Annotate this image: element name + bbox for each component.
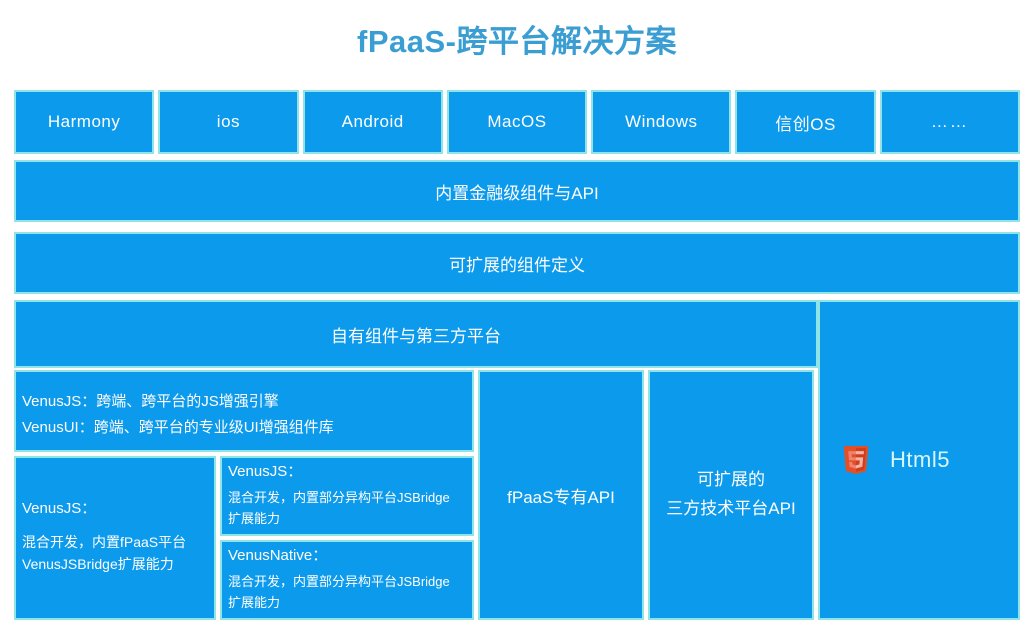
html5-panel-label: Html5 [890,447,950,473]
platform-tile-harmony[interactable]: Harmony [14,90,154,154]
venusjs-body-line1: 混合开发，内置部分异构平台JSBridge [228,487,466,508]
venus-description-block[interactable]: VenusJS：跨端、跨平台的JS增强引擎 VenusUI：跨端、跨平台的专业级… [14,370,474,452]
platform-row: Harmony ios Android MacOS Windows 信创OS …… [14,90,1020,154]
venusjs-heading: VenusJS： [228,463,466,482]
platform-tile-label: 信创OS [775,110,836,135]
band-label: 内置金融级组件与API [435,179,598,204]
venusnative-heterogeneous-cell[interactable]: VenusNative： 混合开发，内置部分异构平台JSBridge 扩展能力 [220,540,474,620]
platform-tile-xinchuang-os[interactable]: 信创OS [735,90,875,154]
venusnative-body-line2: 扩展能力 [228,592,466,613]
platform-tile-label: …… [931,112,969,132]
page-title: fPaaS-跨平台解决方案 [0,16,1034,61]
platform-tile-label: Harmony [48,112,120,132]
platform-tile-macos[interactable]: MacOS [447,90,587,154]
column-fpaas-proprietary-api[interactable]: fPaaS专有API [478,370,644,620]
band-label: 自有组件与第三方平台 [331,322,501,347]
platform-tile-more[interactable]: …… [880,90,1020,154]
platform-tile-label: MacOS [487,112,546,132]
column-label: fPaaS专有API [507,483,615,508]
venusjs-hybrid-heading: VenusJS： [22,501,208,518]
band-label: 可扩展的组件定义 [449,251,585,276]
venusjs-body-line2: 扩展能力 [228,508,466,529]
diagram-canvas: fPaaS-跨平台解决方案 Harmony ios Android MacOS … [0,0,1034,634]
venusnative-heading: VenusNative： [228,547,466,566]
column-label-line1: 可扩展的 [666,466,795,495]
platform-tile-label: Windows [625,112,697,132]
venusjs-hybrid-body-line1: 混合开发，内置fPaaS平台 [22,532,208,554]
venusnative-body-line1: 混合开发，内置部分异构平台JSBridge [228,571,466,592]
column-label-group: 可扩展的 三方技术平台API [666,466,795,524]
venusjs-hybrid-body: 混合开发，内置fPaaS平台 VenusJSBridge扩展能力 [22,532,208,575]
band-extensible-component-definition[interactable]: 可扩展的组件定义 [14,232,1020,294]
platform-tile-label: Android [342,112,404,132]
venusjs-hybrid-body-line2: VenusJSBridge扩展能力 [22,554,208,576]
venusui-description: VenusUI：跨端、跨平台的专业级UI增强组件库 [22,420,466,437]
html5-panel[interactable]: Html5 [818,300,1020,620]
platform-tile-label: ios [217,112,240,132]
platform-tile-android[interactable]: Android [303,90,443,154]
html5-shield-icon [842,444,870,476]
venusjs-heterogeneous-cell[interactable]: VenusJS： 混合开发，内置部分异构平台JSBridge 扩展能力 [220,456,474,536]
platform-tile-ios[interactable]: ios [158,90,298,154]
venusjs-hybrid-cell[interactable]: VenusJS： 混合开发，内置fPaaS平台 VenusJSBridge扩展能… [14,456,216,620]
band-builtin-financial-api[interactable]: 内置金融级组件与API [14,160,1020,222]
platform-tile-windows[interactable]: Windows [591,90,731,154]
band-own-components-third-party-platform[interactable]: 自有组件与第三方平台 [14,300,818,368]
venusjs-description: VenusJS：跨端、跨平台的JS增强引擎 [22,394,466,411]
column-label-line2: 三方技术平台API [666,495,795,524]
column-third-party-tech-platform-api[interactable]: 可扩展的 三方技术平台API [648,370,814,620]
